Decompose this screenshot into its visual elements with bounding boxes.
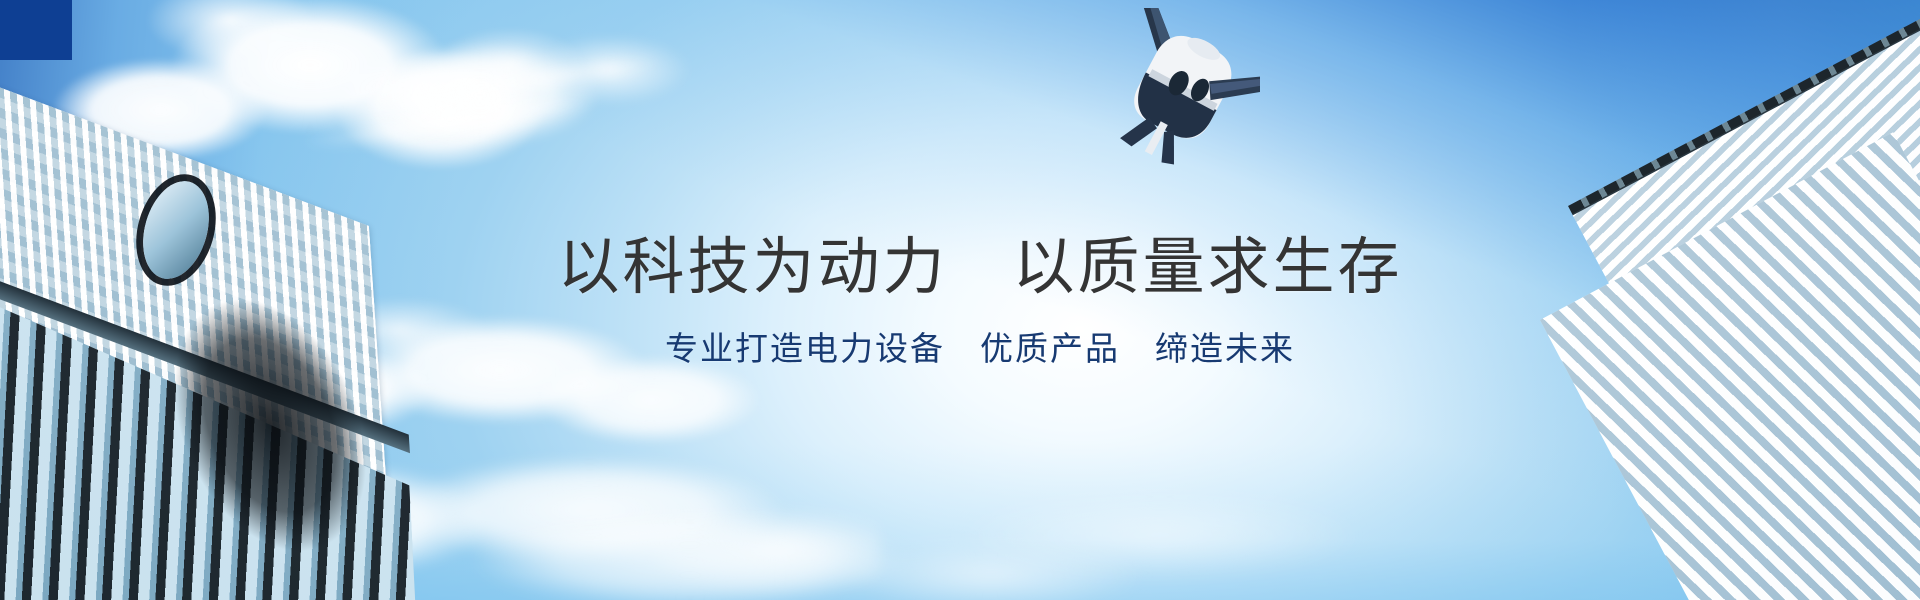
banner-headline: 以科技为动力 以质量求生存 [557, 236, 1402, 298]
banner-text-block: 以科技为动力 以质量求生存 专业打造电力设备 优质产品 缔造未来 [0, 0, 1920, 600]
banner-subheadline: 专业打造电力设备 优质产品 缔造未来 [665, 332, 1295, 365]
hero-banner: 以科技为动力 以质量求生存 专业打造电力设备 优质产品 缔造未来 [0, 0, 1920, 600]
